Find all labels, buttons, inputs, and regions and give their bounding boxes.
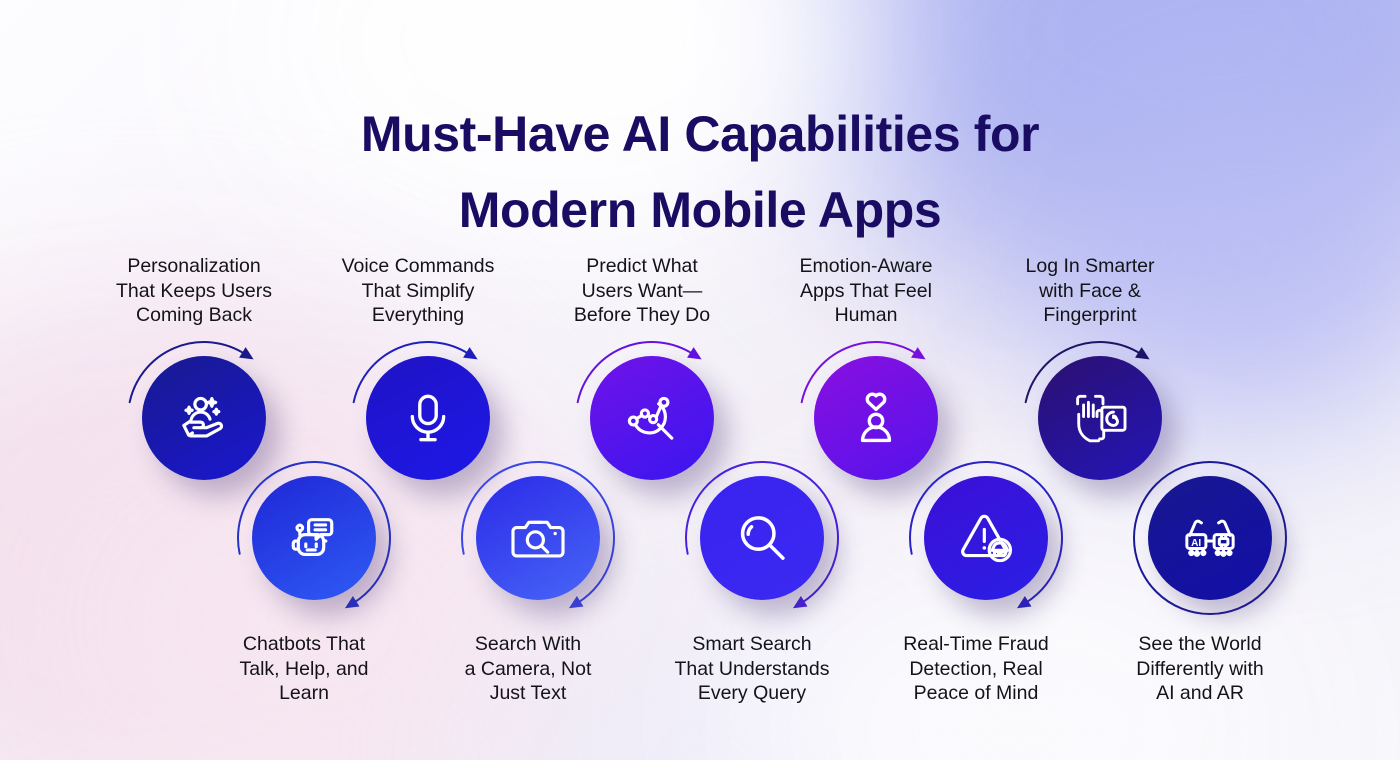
step-label-10: See the WorldDifferently withAI and AR: [1090, 632, 1310, 706]
step-label-4: Search Witha Camera, NotJust Text: [418, 632, 638, 706]
magnifier-analytics-icon: [624, 390, 680, 446]
step-label-line: That Understands: [642, 657, 862, 682]
step-label-line: Fingerprint: [980, 303, 1200, 328]
fraud-alert-icon: [958, 510, 1014, 566]
step-label-6: Smart SearchThat UnderstandsEvery Query: [642, 632, 862, 706]
step-label-2: Chatbots ThatTalk, Help, andLearn: [194, 632, 414, 706]
step-label-line: Apps That Feel: [756, 279, 976, 304]
step-label-line: Peace of Mind: [866, 681, 1086, 706]
step-label-line: Everything: [308, 303, 528, 328]
infographic-canvas: Must-Have AI Capabilities for Modern Mob…: [0, 0, 1400, 760]
step-label-line: Smart Search: [642, 632, 862, 657]
fingerprint-scan-icon: [1072, 390, 1128, 446]
step-label-line: Voice Commands: [308, 254, 528, 279]
step-label-line: Log In Smarter: [980, 254, 1200, 279]
page-title-line-2: Modern Mobile Apps: [0, 172, 1400, 248]
microphone-icon: [400, 390, 456, 446]
magnifier-icon: [734, 510, 790, 566]
step-label-line: Differently with: [1090, 657, 1310, 682]
step-label-line: That Simplify: [308, 279, 528, 304]
step-label-line: Search With: [418, 632, 638, 657]
step-label-7: Emotion-AwareApps That FeelHuman: [756, 254, 976, 328]
step-node-10[interactable]: AI: [1134, 462, 1286, 614]
step-label-5: Predict WhatUsers Want—Before They Do: [532, 254, 752, 328]
step-label-line: Detection, Real: [866, 657, 1086, 682]
page-title-line-1: Must-Have AI Capabilities for: [361, 106, 1039, 162]
step-label-line: Users Want—: [532, 279, 752, 304]
step-label-9: Log In Smarterwith Face &Fingerprint: [980, 254, 1200, 328]
step-label-line: a Camera, Not: [418, 657, 638, 682]
step-label-3: Voice CommandsThat SimplifyEverything: [308, 254, 528, 328]
step-label-line: Before They Do: [532, 303, 752, 328]
step-label-line: Human: [756, 303, 976, 328]
step-label-line: See the World: [1090, 632, 1310, 657]
chatbot-icon: [286, 510, 342, 566]
step-label-line: Coming Back: [84, 303, 304, 328]
page-title: Must-Have AI Capabilities for Modern Mob…: [0, 96, 1400, 248]
step-label-line: AI and AR: [1090, 681, 1310, 706]
step-label-line: Every Query: [642, 681, 862, 706]
step-label-line: That Keeps Users: [84, 279, 304, 304]
step-label-1: PersonalizationThat Keeps UsersComing Ba…: [84, 254, 304, 328]
step-label-line: Predict What: [532, 254, 752, 279]
step-label-8: Real-Time FraudDetection, RealPeace of M…: [866, 632, 1086, 706]
step-label-line: Learn: [194, 681, 414, 706]
step-label-line: Chatbots That: [194, 632, 414, 657]
step-label-line: Emotion-Aware: [756, 254, 976, 279]
step-label-line: Personalization: [84, 254, 304, 279]
step-label-line: Talk, Help, and: [194, 657, 414, 682]
step-label-line: Real-Time Fraud: [866, 632, 1086, 657]
user-heart-icon: [848, 390, 904, 446]
step-label-line: Just Text: [418, 681, 638, 706]
step-icon-circle-10[interactable]: AI: [1148, 476, 1272, 600]
ar-glasses-ai-icon: AI: [1182, 510, 1238, 566]
camera-search-icon: [510, 510, 566, 566]
hand-holding-user-sparkle-icon: [176, 390, 232, 446]
step-label-line: with Face &: [980, 279, 1200, 304]
